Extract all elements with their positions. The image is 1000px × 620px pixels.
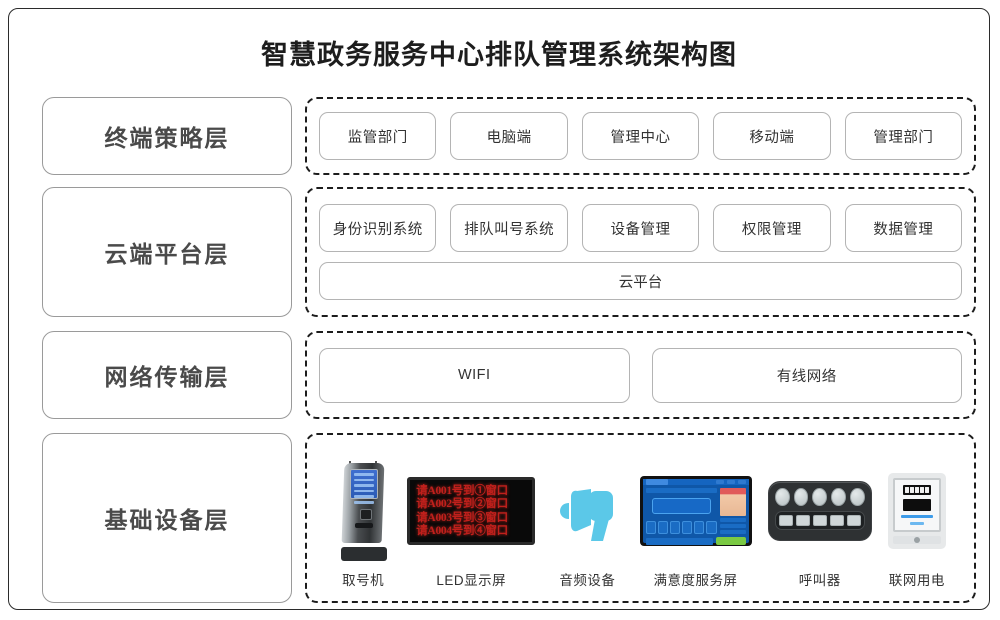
chip-terminal-3[interactable]: 移动端 xyxy=(713,112,830,160)
device-label-power-meter: 联网用电 xyxy=(889,569,945,589)
layer-row-network: 网络传输层 WIFI 有线网络 xyxy=(42,331,976,419)
device-label-audio: 音频设备 xyxy=(559,569,615,589)
chip-network-wired[interactable]: 有线网络 xyxy=(652,348,963,403)
satisfaction-screen-icon xyxy=(640,459,752,563)
device-audio[interactable]: 音频设备 xyxy=(551,449,623,589)
chip-terminal-2[interactable]: 管理中心 xyxy=(582,112,699,160)
device-power-meter[interactable]: 联网用电 xyxy=(888,449,946,589)
chip-terminal-1[interactable]: 电脑端 xyxy=(450,112,567,160)
device-group: 取号机 请A001号到①窗口 请A002号到②窗口 请A003号到③窗口 请A0… xyxy=(319,445,962,591)
led-display-icon: 请A001号到①窗口 请A002号到②窗口 请A003号到③窗口 请A004号到… xyxy=(407,459,535,563)
layer-content-network: WIFI 有线网络 xyxy=(305,331,976,419)
layer-row-terminal: 终端策略层 监管部门 电脑端 管理中心 移动端 管理部门 xyxy=(42,97,976,175)
megaphone-icon xyxy=(551,459,623,563)
led-screen: 请A001号到①窗口 请A002号到②窗口 请A003号到③窗口 请A004号到… xyxy=(407,477,535,545)
device-label-caller: 呼叫器 xyxy=(799,569,841,589)
layer-content-infrastructure: 取号机 请A001号到①窗口 请A002号到②窗口 请A003号到③窗口 请A0… xyxy=(305,433,976,603)
device-label-led-display: LED显示屏 xyxy=(436,569,506,589)
layer-row-infrastructure: 基础设备层 xyxy=(42,433,976,603)
led-line-1: 请A001号到①窗口 xyxy=(416,485,526,497)
layer-content-cloud: 身份识别系统 排队叫号系统 设备管理 权限管理 数据管理 云平台 xyxy=(305,187,976,317)
device-ticket-kiosk[interactable]: 取号机 xyxy=(335,449,391,589)
diagram-frame: 智慧政务服务中心排队管理系统架构图 终端策略层 监管部门 电脑端 管理中心 移动… xyxy=(8,8,990,610)
layer-row-cloud: 云端平台层 身份识别系统 排队叫号系统 设备管理 权限管理 数据管理 云平台 xyxy=(42,187,976,317)
cloud-platform-bar[interactable]: 云平台 xyxy=(319,262,962,300)
power-meter-icon xyxy=(888,459,946,563)
network-chip-group: WIFI 有线网络 xyxy=(319,348,962,403)
chip-cloud-3[interactable]: 权限管理 xyxy=(713,204,830,252)
device-caller[interactable]: 呼叫器 xyxy=(768,449,872,589)
led-line-3: 请A003号到③窗口 xyxy=(416,512,526,524)
chip-network-wifi[interactable]: WIFI xyxy=(319,348,630,403)
chip-cloud-2[interactable]: 设备管理 xyxy=(582,204,699,252)
chip-cloud-0[interactable]: 身份识别系统 xyxy=(319,204,436,252)
device-satisfaction-screen[interactable]: 满意度服务屏 xyxy=(640,449,752,589)
terminal-chip-group: 监管部门 电脑端 管理中心 移动端 管理部门 xyxy=(319,112,962,160)
layer-label-cloud: 云端平台层 xyxy=(42,187,292,317)
chip-cloud-1[interactable]: 排队叫号系统 xyxy=(450,204,567,252)
cloud-chip-group: 身份识别系统 排队叫号系统 设备管理 权限管理 数据管理 xyxy=(319,204,962,252)
led-line-2: 请A002号到②窗口 xyxy=(416,498,526,510)
layer-label-terminal: 终端策略层 xyxy=(42,97,292,175)
ticket-kiosk-icon xyxy=(335,459,391,563)
page-title: 智慧政务服务中心排队管理系统架构图 xyxy=(9,33,989,72)
chip-terminal-0[interactable]: 监管部门 xyxy=(319,112,436,160)
device-label-satisfaction-screen: 满意度服务屏 xyxy=(654,569,738,589)
chip-terminal-4[interactable]: 管理部门 xyxy=(845,112,962,160)
device-label-ticket-kiosk: 取号机 xyxy=(342,569,384,589)
device-led-display[interactable]: 请A001号到①窗口 请A002号到②窗口 请A003号到③窗口 请A004号到… xyxy=(407,449,535,589)
led-line-4: 请A004号到④窗口 xyxy=(416,525,526,537)
layer-content-terminal: 监管部门 电脑端 管理中心 移动端 管理部门 xyxy=(305,97,976,175)
layer-label-infrastructure: 基础设备层 xyxy=(42,433,292,603)
layer-label-network: 网络传输层 xyxy=(42,331,292,419)
chip-cloud-4[interactable]: 数据管理 xyxy=(845,204,962,252)
caller-device-icon xyxy=(768,459,872,563)
